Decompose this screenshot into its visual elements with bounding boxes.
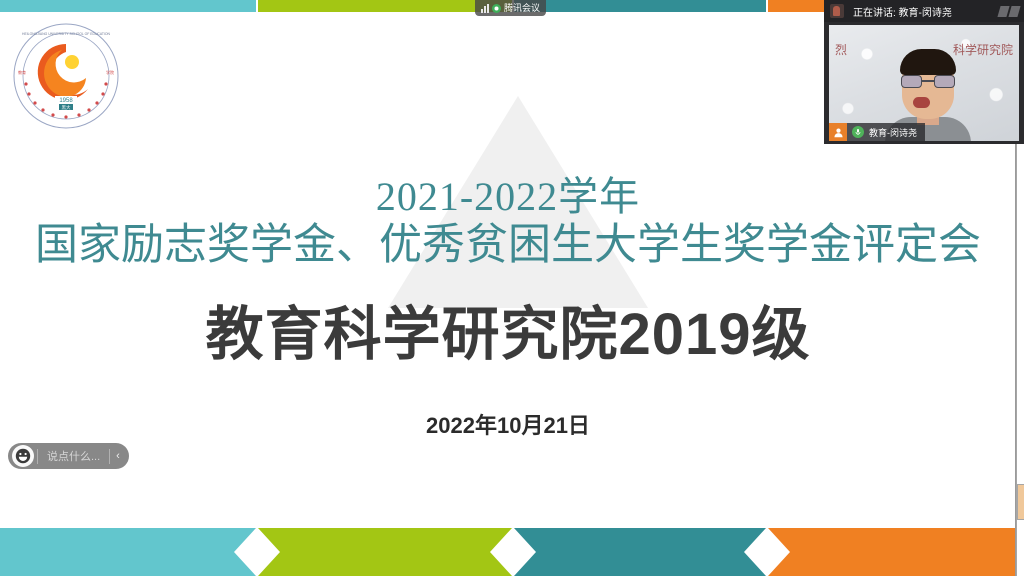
participant-video-tile[interactable]: 正在讲话: 教育-闵诗尧 烈 科学研究院 — [824, 0, 1024, 144]
signal-bars-icon — [481, 4, 489, 13]
chat-composer-bar[interactable]: 说点什么... ‹ — [8, 443, 129, 469]
band-segment-green — [258, 0, 512, 12]
svg-text:教育: 教育 — [18, 69, 26, 75]
logo-year: 1958 — [59, 98, 73, 104]
video-feed: 烈 科学研究院 — [829, 25, 1019, 141]
microphone-on-icon — [852, 126, 864, 138]
band-segment-orange — [768, 528, 1016, 576]
svg-text:学院: 学院 — [106, 69, 114, 75]
band-segment-green — [258, 528, 512, 576]
slide-subtitle: 教育科学研究院2019级 — [0, 300, 1016, 370]
vertical-scrollbar[interactable] — [1016, 144, 1024, 576]
person-icon — [829, 123, 847, 141]
video-tile-header: 正在讲话: 教育-闵诗尧 — [824, 0, 1024, 22]
band-segment-teal-dark — [514, 528, 766, 576]
university-emblem-icon: HEILONGJIANG UNIVERSITY SCHOOL OF EDUCAT… — [12, 22, 120, 130]
slide-title-block: 2021-2022学年 国家励志奖学金、优秀贫困生大学生奖学金评定会 — [0, 174, 1016, 272]
band-segment-teal-dark — [514, 0, 766, 12]
participant-nameplate: 教育-闵诗尧 — [829, 123, 925, 141]
glasses-bridge — [922, 80, 934, 82]
video-background-text-left: 烈 — [835, 41, 847, 58]
glasses-lens-right — [934, 75, 955, 88]
chevron-left-icon[interactable]: ‹ — [110, 451, 127, 462]
participant-name: 教育-闵诗尧 — [869, 126, 917, 139]
more-participants-icon[interactable] — [999, 6, 1019, 17]
speaker-thumbnail-icon — [830, 4, 844, 18]
emoji-smiley-icon[interactable] — [12, 445, 34, 467]
glasses-lens-left — [901, 75, 922, 88]
tencent-meeting-label: 腾讯会议 — [504, 4, 540, 13]
bottom-decorative-band — [0, 528, 1016, 576]
chat-input[interactable]: 说点什么... — [38, 448, 109, 464]
participant-glasses — [901, 75, 955, 88]
active-speaker-label: 正在讲话: 教育-闵诗尧 — [853, 4, 952, 19]
band-segment-teal-light — [0, 0, 256, 12]
svg-text:黑大: 黑大 — [62, 104, 71, 111]
slide-title-line-2: 国家励志奖学金、优秀贫困生大学生奖学金评定会 — [0, 220, 1016, 272]
slide-date: 2022年10月21日 — [0, 408, 1016, 440]
band-segment-teal-light — [0, 528, 256, 576]
scrollbar-thumb[interactable] — [1017, 484, 1024, 520]
tencent-meeting-badge[interactable]: 腾讯会议 — [475, 0, 546, 16]
recording-indicator-icon — [492, 4, 501, 13]
university-logo: HEILONGJIANG UNIVERSITY SCHOOL OF EDUCAT… — [12, 22, 120, 130]
slide-title-line-1: 2021-2022学年 — [0, 174, 1016, 220]
participant-hair — [900, 49, 956, 75]
participant-mouth — [913, 97, 930, 108]
screen-root: HEILONGJIANG UNIVERSITY SCHOOL OF EDUCAT… — [0, 0, 1024, 576]
svg-text:HEILONGJIANG UNIVERSITY SCHOOL: HEILONGJIANG UNIVERSITY SCHOOL OF EDUCAT… — [22, 32, 110, 36]
